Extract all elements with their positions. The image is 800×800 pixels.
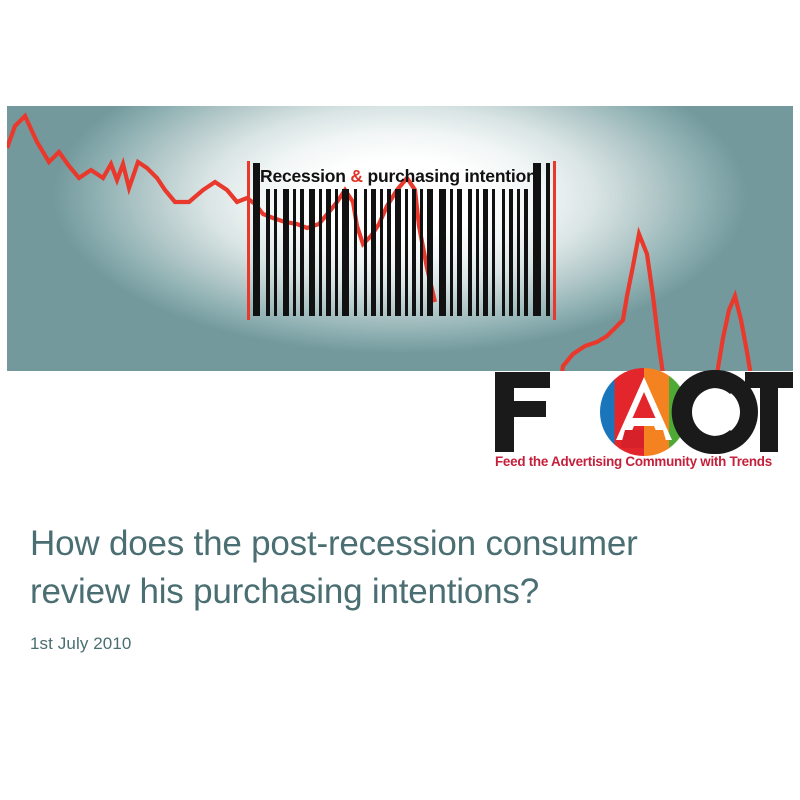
- hero-banner: Recession & purchasing intention: [7, 106, 793, 371]
- logo-letter-f: [495, 372, 550, 452]
- barcode-guard-red-right: [553, 161, 556, 320]
- barcode-bars: [247, 189, 556, 316]
- barcode-guard-left: [253, 163, 260, 316]
- fact-tagline: Feed the Advertising Community with Tren…: [495, 454, 795, 469]
- barcode-label-post: purchasing intention: [363, 166, 537, 186]
- barcode-label-ampersand: &: [350, 166, 362, 186]
- fact-wordmark: [492, 368, 794, 456]
- title-block: How does the post-recession consumer rev…: [30, 520, 770, 654]
- trend-line-right: [558, 234, 793, 371]
- page-title: How does the post-recession consumer rev…: [30, 520, 770, 616]
- barcode-graphic: Recession & purchasing intention: [247, 163, 556, 316]
- barcode-label: Recession & purchasing intention: [260, 163, 537, 190]
- barcode-guard-right: [533, 163, 541, 316]
- barcode-guard-right-thin: [546, 163, 550, 316]
- barcode-guard-red-left: [247, 161, 250, 320]
- deck-date: 1st July 2010: [30, 633, 770, 654]
- fact-logo: Feed the Advertising Community with Tren…: [492, 368, 794, 480]
- barcode-label-pre: Recession: [260, 166, 350, 186]
